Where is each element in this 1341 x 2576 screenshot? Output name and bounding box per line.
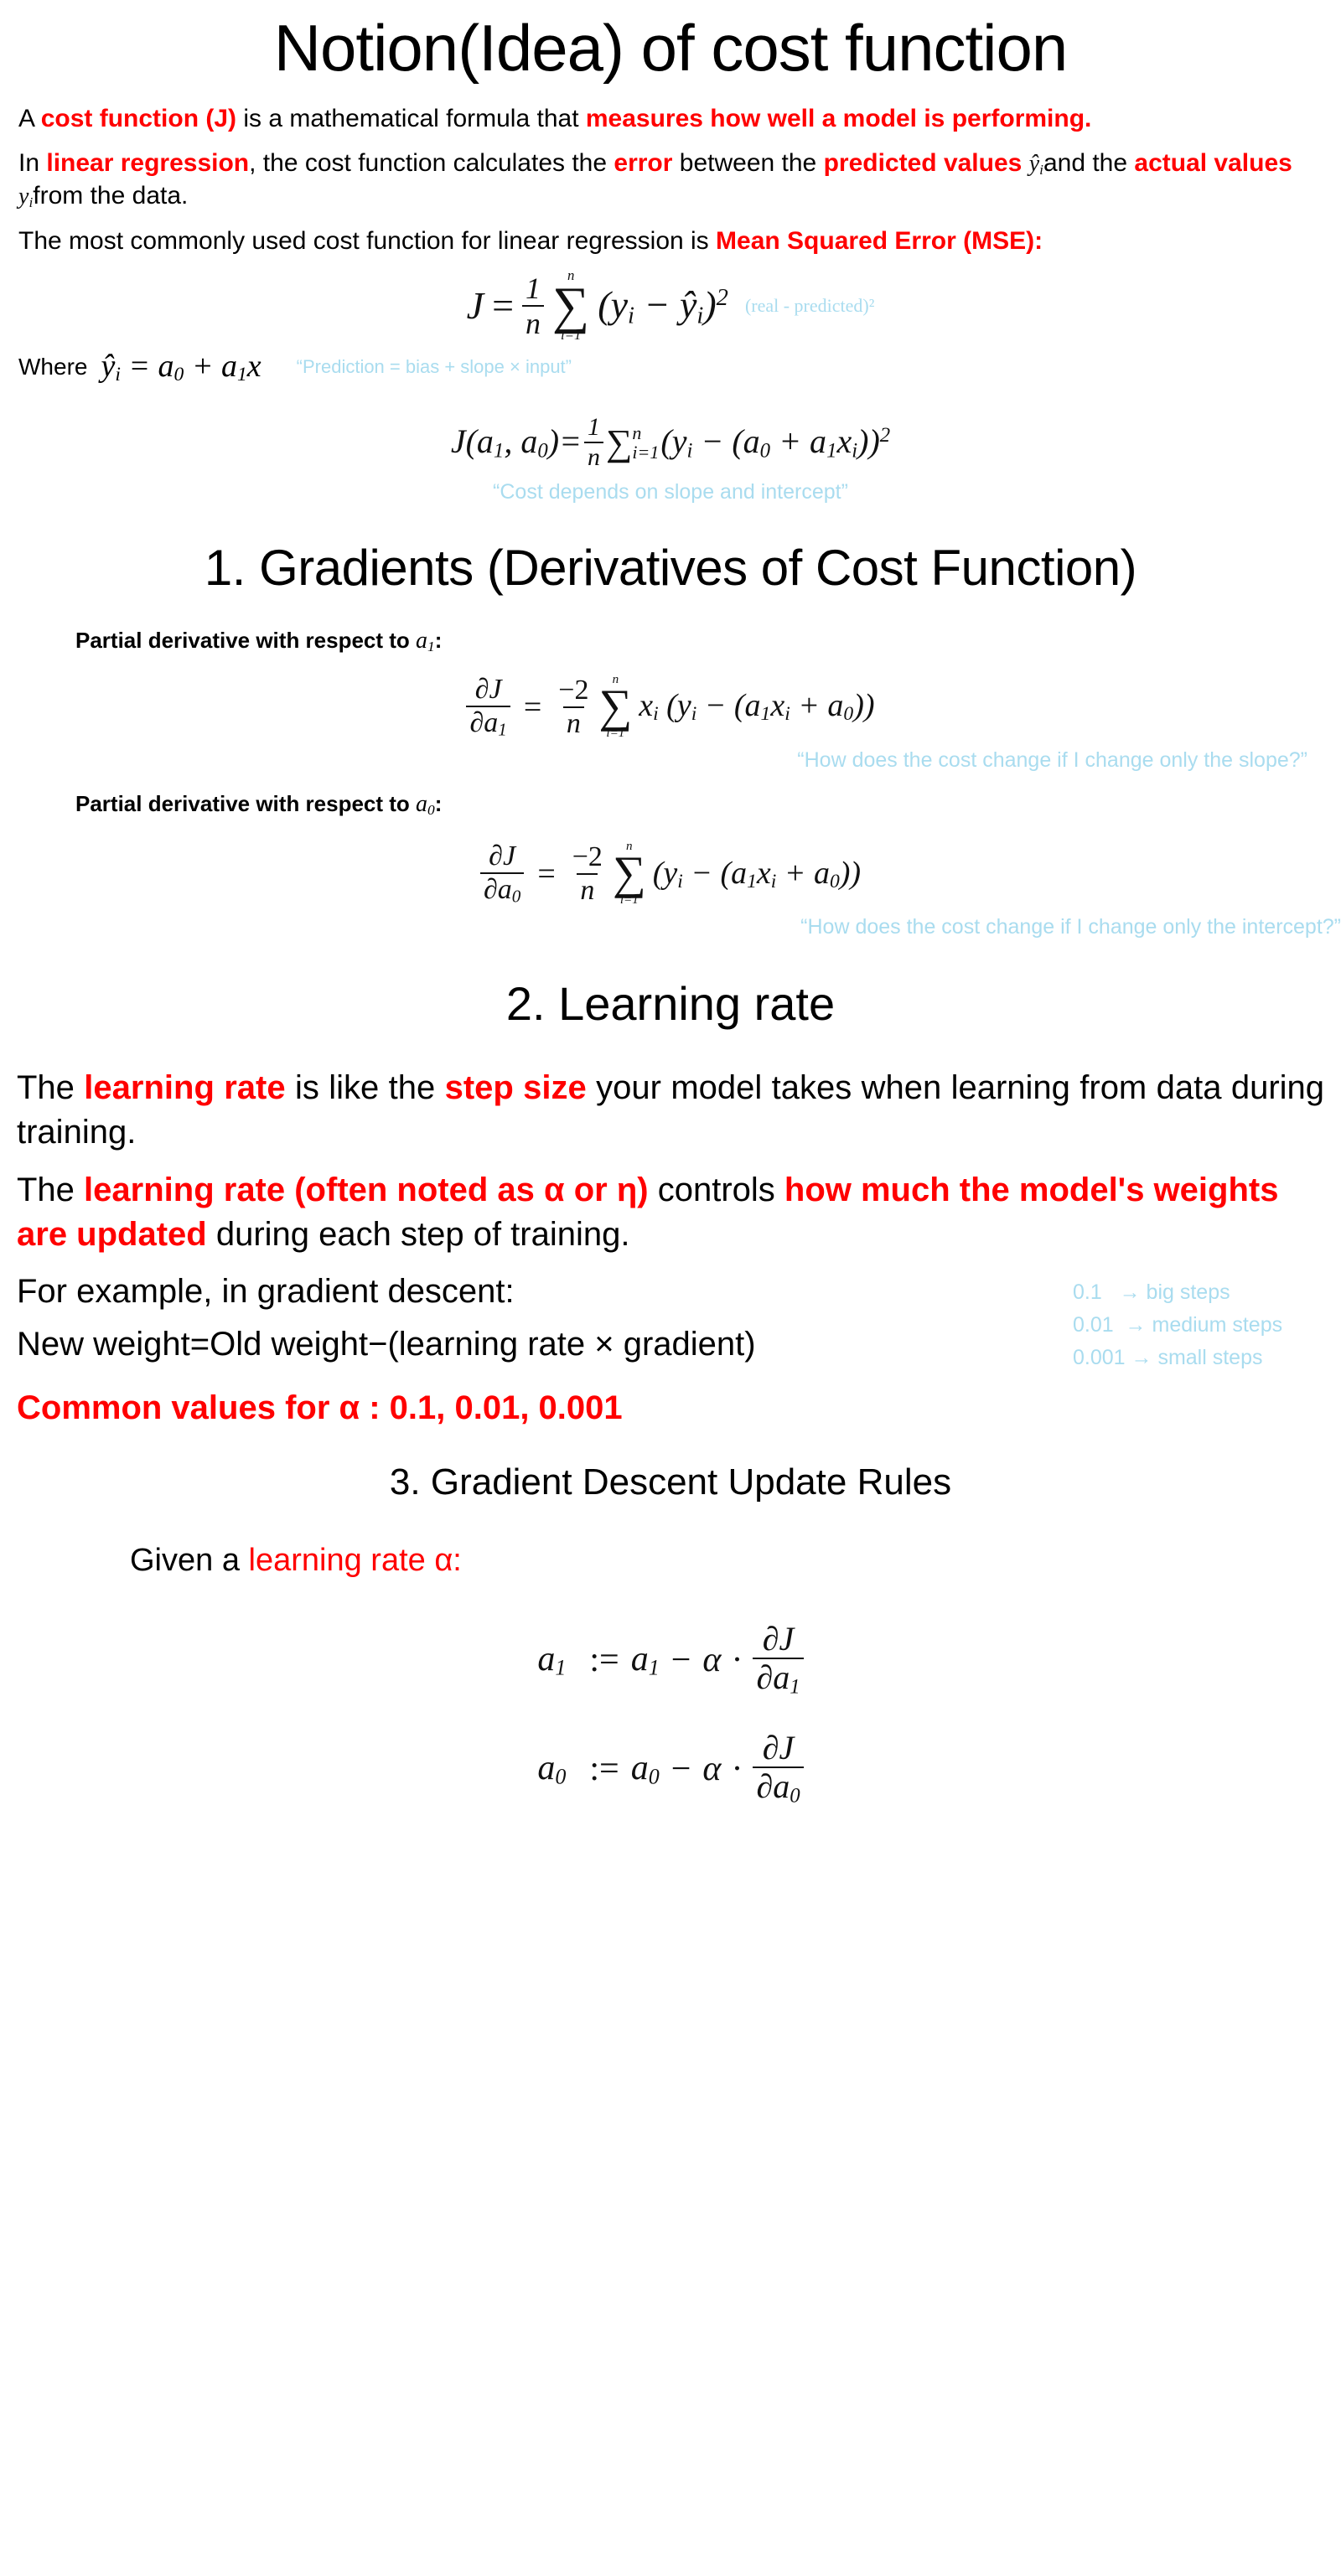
gradient-a1-sigma-icon: ∑	[598, 686, 632, 727]
expanded-summation: ∑	[606, 422, 632, 464]
lr-rate-item-0: 0.1 → big steps	[1073, 1276, 1324, 1309]
gradient-a0-equals: =	[537, 856, 555, 892]
intro-p1-text-c: is a mathematical formula that	[236, 105, 586, 132]
intro-paragraph-2: In linear regression, the cost function …	[0, 147, 1341, 213]
gradient-a0-annotation: “How does the cost change if I change on…	[800, 915, 1341, 939]
gradient-a1-rhs-numerator: −2	[555, 676, 592, 706]
mse-annotation: (real - predicted)²	[745, 295, 874, 317]
learning-rate-example-text: For example, in gradient descent: New we…	[17, 1270, 1053, 1367]
lr-p1-text-c: is like the	[286, 1069, 445, 1106]
update-a0-alpha: α	[702, 1749, 721, 1789]
update-a0-gradient-fraction: ∂J ∂a0	[753, 1731, 803, 1807]
lr-example-intro: For example, in gradient descent:	[17, 1270, 1053, 1314]
gradient-formula-a0: ∂J ∂a0 = −2 n n ∑ i=1 (yi − (a1xi + a0))	[0, 841, 1341, 907]
mse-fraction-one-over-n: 1 n	[522, 273, 544, 339]
gradient-a0-body: (yi − (a1xi + a0))	[653, 855, 861, 893]
gradient-a1-numerator: ∂J	[472, 675, 505, 706]
gradient-a0-rhs-numerator: −2	[569, 843, 606, 873]
gradient-a1-lhs-fraction: ∂J ∂a1	[466, 675, 510, 739]
where-expression: ŷi = a0 + a1x	[101, 348, 261, 386]
intro-paragraph-1: A cost function (J) is a mathematical fo…	[0, 102, 1341, 135]
lr-rate-item-2: 0.001 → small steps	[1073, 1342, 1324, 1374]
update-a0-assign-operator: :=	[589, 1749, 619, 1789]
intro-p1-text-a: A	[18, 105, 41, 132]
update-rule-a0: a0 := a0 − α · ∂J ∂a0	[0, 1731, 1341, 1807]
intro-p3-text-a: The most commonly used cost function for…	[18, 227, 716, 255]
mse-formula: J = 1 n n ∑ i=1 (yi − ŷi)2 (real - predi…	[0, 269, 1341, 343]
intro-p2-highlight-predicted-values: predicted values	[824, 149, 1023, 177]
update-rule-a1: a1 := a1 − α · ∂J ∂a1	[0, 1622, 1341, 1698]
gradient-a1-denominator: ∂a1	[466, 706, 510, 739]
update-a1-minus: −	[671, 1640, 691, 1680]
expanded-cost-lhs: J(a1, a0)=	[451, 422, 582, 463]
gradient-a0-annotation-wrap: “How does the cost change if I change on…	[0, 915, 1341, 939]
intro-p1-highlight-cost-function: cost function (J)	[41, 105, 236, 132]
gradient-a1-body: xi (yi − (a1xi + a0))	[639, 687, 874, 726]
update-a0-frac-denominator: ∂a0	[753, 1766, 803, 1807]
math-yhat-i: ŷi	[1029, 151, 1043, 177]
update-a1-assign-operator: :=	[589, 1640, 619, 1680]
common-values-line: Common values for α : 0.1, 0.01, 0.001	[0, 1386, 1341, 1430]
mse-formula-core: J = 1 n n ∑ i=1 (yi − ŷi)2 (real - predi…	[467, 269, 875, 343]
expanded-cost-formula: J(a1, a0)= 1 n ∑ni=1 (yi − (a0 + a1xi))2	[0, 415, 1341, 470]
lr-p1-highlight-step-size: step size	[445, 1069, 587, 1106]
gradient-a0-sum-lower: i=1	[620, 894, 639, 907]
mse-sum-lower-limit: i=1	[561, 328, 581, 343]
lr-p2-text-a: The	[17, 1172, 84, 1208]
intro-p2-highlight-error: error	[614, 149, 672, 177]
gradient-a1-sum-lower: i=1	[606, 727, 624, 740]
update-a0-rhs-var: a0	[631, 1748, 660, 1790]
lr-p1-highlight-learning-rate: learning rate	[84, 1069, 285, 1106]
learning-rate-paragraph-1: The learning rate is like the step size …	[0, 1066, 1341, 1155]
update-a1-alpha: α	[702, 1640, 721, 1680]
partial-a0-colon: :	[435, 791, 443, 816]
update-a0-dot: ·	[731, 1749, 743, 1789]
intro-p3-highlight-mse: Mean Squared Error (MSE):	[716, 227, 1043, 255]
intro-p2-highlight-linear-regression: linear regression	[46, 149, 249, 177]
gradient-a0-sigma-icon: ∑	[613, 853, 646, 894]
partial-derivative-a1-label: Partial derivative with respect to a1:	[0, 628, 1341, 655]
intro-p2-text-c: , the cost function calculates the	[249, 149, 614, 177]
gradient-a0-rhs-denominator: n	[577, 873, 598, 905]
mse-summation: n ∑ i=1	[552, 269, 589, 343]
update-a1-rhs-var: a1	[631, 1639, 660, 1681]
intro-p2-highlight-actual-values: actual values	[1134, 149, 1292, 177]
mse-exponent: 2	[717, 285, 728, 311]
expanded-cost-annotation-wrap: “Cost depends on slope and intercept”	[0, 480, 1341, 504]
gradient-a1-rhs-denominator: n	[563, 706, 584, 738]
gradient-a0-lhs-fraction: ∂J ∂a0	[480, 842, 524, 906]
partial-a1-colon: :	[435, 628, 443, 653]
mse-frac-numerator: 1	[522, 273, 544, 305]
gradient-a1-equals: =	[524, 689, 541, 726]
given-text-a: Given a	[130, 1543, 249, 1578]
given-highlight-learning-rate: learning rate α:	[249, 1543, 462, 1578]
update-a1-frac-denominator: ∂a1	[753, 1658, 803, 1698]
learning-rate-paragraph-2: The learning rate (often noted as α or η…	[0, 1168, 1341, 1257]
where-definition-line: Where ŷi = a0 + a1x “Prediction = bias +…	[0, 348, 1341, 386]
gradient-a1-summation: n ∑ i=1	[598, 674, 632, 740]
partial-a1-label-text: Partial derivative with respect to	[75, 628, 416, 653]
lr-rate-item-1: 0.01 → medium steps	[1073, 1309, 1324, 1342]
gradient-a0-rhs-fraction: −2 n	[569, 843, 606, 905]
lr-p2-text-e: during each step of training.	[207, 1216, 630, 1253]
document-page: Notion(Idea) of cost function A cost fun…	[0, 15, 1341, 2576]
learning-rate-example-row: For example, in gradient descent: New we…	[0, 1270, 1341, 1373]
gradient-a1-annotation: “How does the cost change if I change on…	[797, 748, 1307, 772]
mse-sum-sigma-icon: ∑	[552, 283, 589, 329]
gradient-a0-denominator: ∂a0	[480, 872, 524, 906]
lr-p2-highlight-notation: learning rate (often noted as α or η)	[84, 1172, 649, 1208]
update-a0-frac-numerator: ∂J	[759, 1731, 798, 1766]
section-3-heading: 3. Gradient Descent Update Rules	[0, 1463, 1341, 1502]
expanded-frac-numerator: 1	[584, 415, 603, 442]
gradient-a0-numerator: ∂J	[485, 842, 519, 872]
partial-a0-variable: a0	[416, 791, 435, 817]
gradient-a1-rhs-fraction: −2 n	[555, 676, 592, 738]
expanded-cost-body: (yi − (a0 + a1xi))2	[660, 422, 890, 463]
gradient-formula-a1: ∂J ∂a1 = −2 n n ∑ i=1 xi (yi − (a1xi + a…	[0, 674, 1341, 740]
given-learning-rate-line: Given a learning rate α:	[0, 1543, 1341, 1579]
gradient-a1-annotation-wrap: “How does the cost change if I change on…	[0, 748, 1341, 773]
partial-derivative-a0-label: Partial derivative with respect to a0:	[0, 791, 1341, 819]
intro-p2-text-a: In	[18, 149, 46, 177]
expanded-cost-fraction: 1 n	[584, 415, 603, 470]
mse-body: (yi − ŷi)2	[598, 282, 728, 329]
section-1-heading: 1. Gradients (Derivatives of Cost Functi…	[0, 541, 1341, 594]
intro-paragraph-3: The most commonly used cost function for…	[0, 225, 1341, 257]
expanded-frac-denominator: n	[584, 442, 603, 470]
intro-p2-text-e: between the	[672, 149, 823, 177]
update-a1-lhs: a1	[537, 1639, 566, 1681]
lr-p2-text-c: controls	[649, 1172, 784, 1208]
lr-update-equation: New weight=Old weight−(learning rate × g…	[17, 1322, 1053, 1367]
page-title: Notion(Idea) of cost function	[0, 15, 1341, 80]
section-2-heading: 2. Learning rate	[0, 980, 1341, 1029]
math-y-i: yi	[18, 184, 33, 209]
intro-p2-text-h: and the	[1043, 149, 1134, 177]
gradient-a0-summation: n ∑ i=1	[613, 841, 646, 907]
intro-p2-text-k: from the data.	[33, 182, 188, 209]
learning-rate-step-legend: 0.1 → big steps 0.01 → medium steps 0.00…	[1073, 1270, 1324, 1373]
update-a0-lhs: a0	[537, 1748, 566, 1790]
partial-a1-variable: a1	[416, 628, 435, 654]
where-annotation: “Prediction = bias + slope × input”	[297, 356, 572, 378]
expanded-cost-annotation: “Cost depends on slope and intercept”	[493, 480, 848, 504]
update-a1-dot: ·	[731, 1640, 743, 1680]
expanded-sum-upper: n	[632, 423, 659, 442]
update-a0-minus: −	[671, 1749, 691, 1789]
mse-symbol-J: J	[467, 283, 484, 328]
expanded-sum-limits: ni=1	[632, 423, 659, 462]
intro-p1-highlight-measures: measures how well a model is performing.	[586, 105, 1092, 132]
lr-p1-text-a: The	[17, 1069, 84, 1106]
mse-equals: =	[492, 283, 514, 328]
where-label: Where	[18, 354, 87, 380]
mse-frac-denominator: n	[522, 305, 544, 339]
expanded-cost-exponent: 2	[880, 424, 890, 447]
update-a1-gradient-fraction: ∂J ∂a1	[753, 1622, 803, 1698]
update-a1-frac-numerator: ∂J	[759, 1622, 798, 1658]
partial-a0-label-text: Partial derivative with respect to	[75, 791, 416, 816]
expanded-sum-lower: i=1	[632, 442, 659, 462]
